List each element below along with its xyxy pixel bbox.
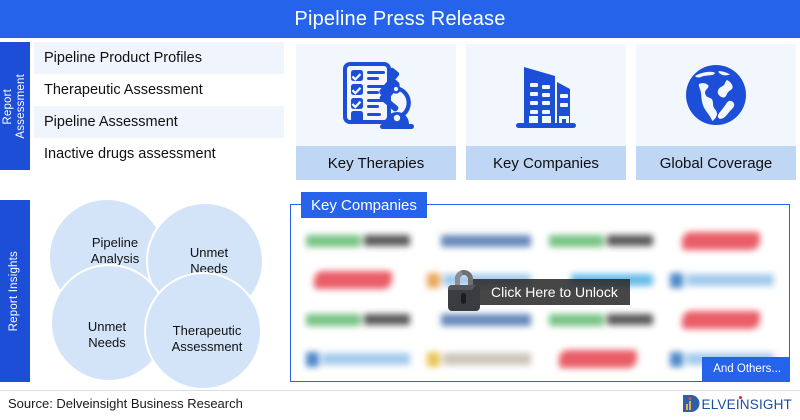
page-title: Pipeline Press Release xyxy=(294,8,505,31)
feature-card-label: Key Companies xyxy=(466,146,626,180)
source-text: Source: Delveinsight Business Research xyxy=(8,396,243,411)
sidebar-tab-report-insights[interactable]: Report Insights xyxy=(0,200,30,382)
company-logo[interactable] xyxy=(549,230,653,252)
company-logo[interactable] xyxy=(306,269,410,291)
buildings-icon xyxy=(466,44,626,146)
venn-circle-therapeutic-assessment: Therapeutic Assessment xyxy=(144,272,262,390)
venn-circle-label: Unmet Needs xyxy=(82,319,132,352)
company-logo[interactable] xyxy=(306,348,410,370)
list-item-label: Pipeline Product Profiles xyxy=(44,50,202,66)
delveinsight-wordmark: ELVEINSIGHT xyxy=(702,397,792,412)
company-logo[interactable] xyxy=(549,348,653,370)
company-logo[interactable] xyxy=(670,230,774,252)
delveinsight-d-icon xyxy=(682,394,701,413)
feature-card-row: Key Therapies xyxy=(296,44,796,180)
feature-card-global-coverage[interactable]: Global Coverage xyxy=(636,44,796,180)
feature-card-label: Key Therapies xyxy=(296,146,456,180)
globe-icon xyxy=(636,44,796,146)
feature-card-key-therapies[interactable]: Key Therapies xyxy=(296,44,456,180)
padlock-icon[interactable] xyxy=(443,264,485,319)
unlock-tooltip[interactable]: Click Here to Unlock xyxy=(471,279,630,305)
list-item[interactable]: Inactive drugs assessment xyxy=(34,138,284,170)
list-item[interactable]: Pipeline Assessment xyxy=(34,106,284,138)
company-logo[interactable] xyxy=(427,348,531,370)
company-logo[interactable] xyxy=(427,230,531,252)
report-insights-venn: Pipeline Analysis Unmet Needs Unmet Need… xyxy=(48,198,278,384)
feature-card-label: Global Coverage xyxy=(636,146,796,180)
footer-divider xyxy=(0,390,800,391)
press-release-infographic: Pipeline Press Release Report Assessment… xyxy=(0,0,800,420)
company-logo[interactable] xyxy=(670,309,774,331)
list-item-label: Pipeline Assessment xyxy=(44,114,178,130)
sidebar-tab-report-assessment-label: Report Assessment xyxy=(2,74,28,139)
company-logo[interactable] xyxy=(670,269,774,291)
clipboard-microscope-icon xyxy=(296,44,456,146)
list-item[interactable]: Pipeline Product Profiles xyxy=(34,42,284,74)
logo-accent-dot xyxy=(739,396,742,399)
delveinsight-logo: ELVEINSIGHT xyxy=(682,394,792,413)
feature-card-key-companies[interactable]: Key Companies xyxy=(466,44,626,180)
key-companies-panel-title: Key Companies xyxy=(301,192,427,218)
page-header: Pipeline Press Release xyxy=(0,0,800,38)
company-logo[interactable] xyxy=(306,309,410,331)
list-item-label: Inactive drugs assessment xyxy=(44,146,216,162)
list-item[interactable]: Therapeutic Assessment xyxy=(34,74,284,106)
sidebar-tab-report-insights-label: Report Insights xyxy=(8,251,21,331)
list-item-label: Therapeutic Assessment xyxy=(44,82,203,98)
venn-circle-label: Pipeline Analysis xyxy=(85,235,145,268)
and-others-badge[interactable]: And Others... xyxy=(702,357,790,382)
unlock-overlay[interactable]: Click Here to Unlock xyxy=(443,264,630,319)
report-assessment-list: Pipeline Product Profiles Therapeutic As… xyxy=(34,42,284,170)
company-logo[interactable] xyxy=(306,230,410,252)
sidebar-tab-report-assessment[interactable]: Report Assessment xyxy=(0,42,30,170)
venn-circle-label: Therapeutic Assessment xyxy=(166,323,249,356)
